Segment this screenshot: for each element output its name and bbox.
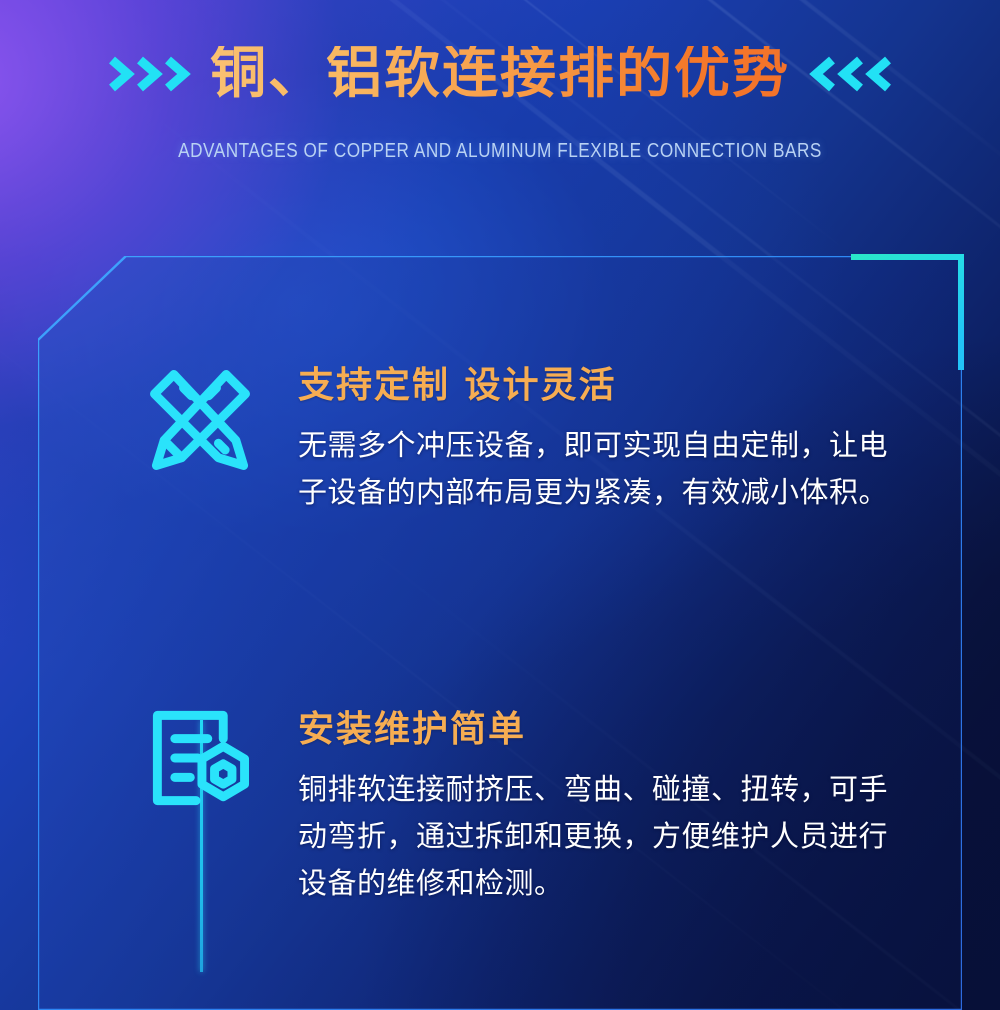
pencil-ruler-icon [135,358,265,482]
content-panel: 支持定制 设计灵活 无需多个冲压设备，即可实现自由定制，让电子设备的内部布局更为… [30,248,970,1010]
feature-1-body: 支持定制 设计灵活 无需多个冲压设备，即可实现自由定制，让电子设备的内部布局更为… [298,366,918,516]
feature-2-body: 安装维护简单 铜排软连接耐挤压、弯曲、碰撞、扭转，可手动弯折，通过拆卸和更换，方… [298,710,918,907]
feature-1-title: 支持定制 设计灵活 [298,366,918,406]
document-hexnut-icon [135,696,265,820]
page-title: 铜、铝软连接排的优势 [210,46,790,102]
title-row: 铜、铝软连接排的优势 [0,46,1000,102]
page-subtitle: ADVANTAGES OF COPPER AND ALUMINUM FLEXIB… [70,140,930,163]
feature-2-text: 铜排软连接耐挤压、弯曲、碰撞、扭转，可手动弯折，通过拆卸和更换，方便维护人员进行… [298,766,898,907]
feature-1-icon-wrap [135,358,265,482]
feature-2-icon-wrap [135,696,265,820]
infographic-stage: 铜、铝软连接排的优势 ADVANTAGES OF COPPER AND ALUM… [0,0,1000,1010]
chevron-right-triple-icon [106,54,192,94]
chevron-left-triple-icon [808,54,894,94]
feature-1-text: 无需多个冲压设备，即可实现自由定制，让电子设备的内部布局更为紧凑，有效减小体积。 [298,422,898,516]
feature-2-title: 安装维护简单 [298,710,918,750]
header: 铜、铝软连接排的优势 ADVANTAGES OF COPPER AND ALUM… [0,0,1000,200]
